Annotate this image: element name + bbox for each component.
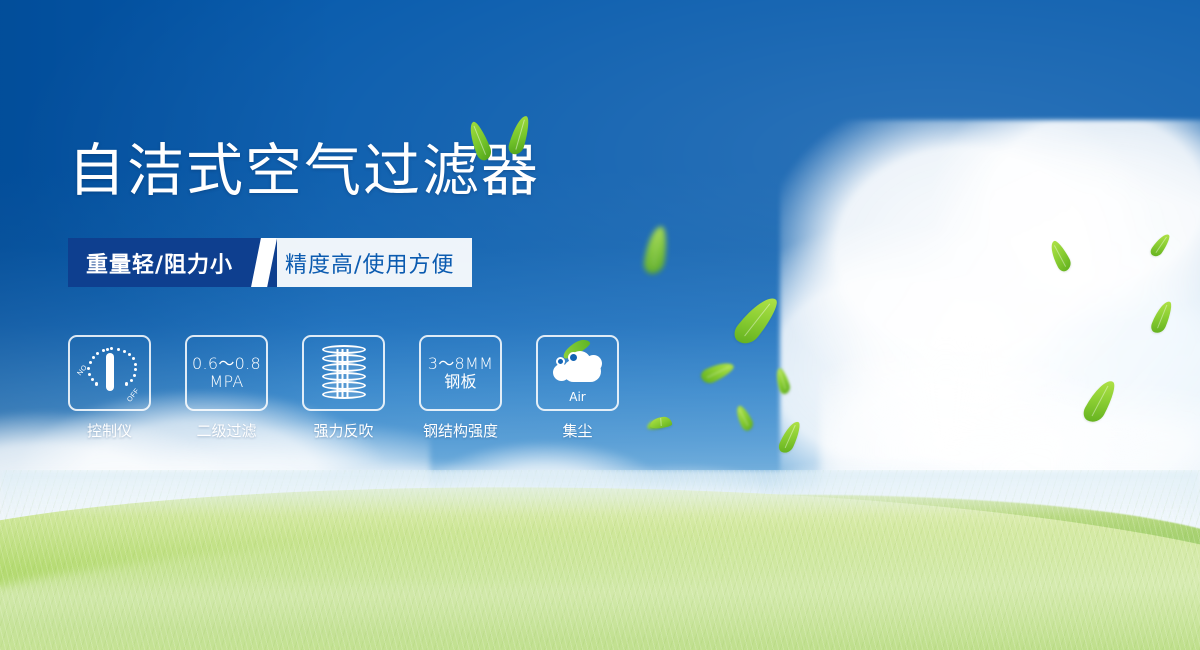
grass-field: [0, 470, 1200, 650]
feature-item-blowback: 强力反吹: [302, 335, 385, 441]
feature-label: 集尘: [562, 420, 592, 441]
subtitle-right-text: 精度高/使用方便: [277, 238, 472, 287]
feature-icon-box: 0.6～0.8 MPA: [185, 335, 268, 411]
pressure-text-icon: 0.6～0.8 MPA: [192, 355, 261, 391]
feature-icon-box: [302, 335, 385, 411]
subtitle-diagonal-divider: [251, 238, 277, 287]
steel-plate-text-icon: 3～8MM 钢板: [428, 355, 493, 391]
filter-cartridge-icon: [320, 345, 368, 401]
feature-label: 钢结构强度: [423, 420, 498, 441]
feature-item-dust: Air 集尘: [536, 335, 619, 441]
steel-thickness: 3～8MM: [428, 354, 493, 373]
dust-particle-icon: [568, 352, 579, 363]
feature-icon-box: 3～8MM 钢板: [419, 335, 502, 411]
dial-gauge-icon: NO OFF: [79, 345, 141, 401]
feature-item-control: NO OFF 控制仪: [68, 335, 151, 441]
dust-particle-icon: [556, 357, 565, 366]
feature-icon-box: NO OFF: [68, 335, 151, 411]
air-label: Air: [547, 390, 609, 404]
feature-label: 强力反吹: [313, 420, 373, 441]
subtitle-left-text: 重量轻/阻力小: [68, 238, 251, 287]
feature-item-pressure: 0.6～0.8 MPA 二级过滤: [185, 335, 268, 441]
grass-horizon-blend: [0, 470, 1200, 516]
pressure-unit: MPA: [192, 373, 261, 391]
product-banner: 自洁式空气过滤器 重量轻/阻力小 精度高/使用方便: [0, 0, 1200, 650]
feature-icon-box: Air: [536, 335, 619, 411]
feature-list: NO OFF 控制仪 0.6～0.8 MPA 二级过滤: [68, 335, 619, 441]
steel-material: 钢板: [428, 373, 493, 391]
dial-pointer: [106, 353, 114, 391]
pressure-value: 0.6～0.8: [192, 354, 261, 373]
feature-label: 控制仪: [87, 420, 132, 441]
subtitle-badge-bar: 重量轻/阻力小 精度高/使用方便: [68, 238, 472, 287]
title-leaf-left-icon: [465, 120, 494, 163]
title-leaf-right-icon: [507, 114, 532, 157]
air-cloud-icon: Air: [547, 345, 609, 401]
dial-on-label: NO: [76, 364, 88, 377]
feature-item-steel: 3～8MM 钢板 钢结构强度: [419, 335, 502, 441]
title-leaf-pair: [470, 113, 550, 165]
feature-label: 二级过滤: [196, 420, 256, 441]
